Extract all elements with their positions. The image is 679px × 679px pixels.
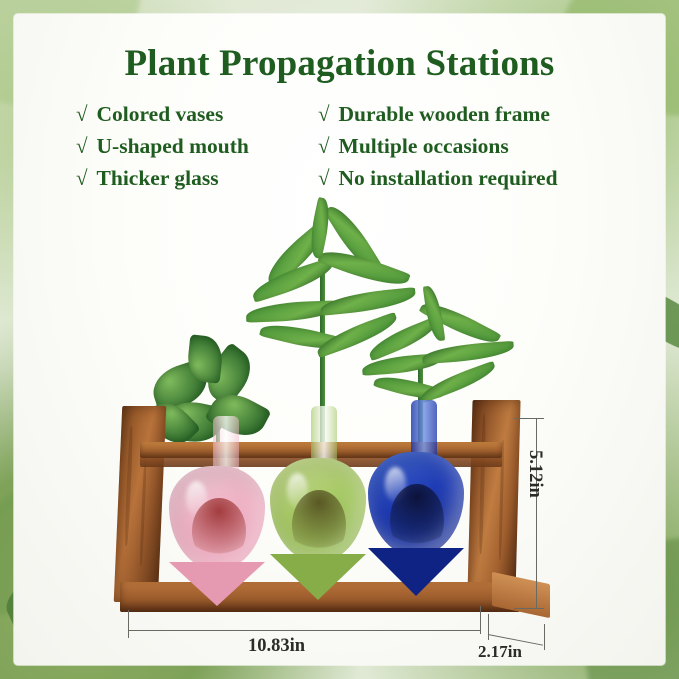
feature-label: Colored vases (97, 102, 224, 127)
pink-vase-tip (169, 562, 265, 606)
depth-tick-right (544, 624, 545, 650)
height-tick-bottom (514, 608, 544, 609)
page-title: Plant Propagation Stations (14, 42, 665, 85)
check-icon: √ (76, 136, 88, 157)
feature-item: √ Multiple occasions (318, 134, 636, 159)
feature-label: Durable wooden frame (339, 102, 550, 127)
feature-item: √ No installation required (318, 166, 636, 191)
green-vase-tip (270, 554, 366, 600)
check-icon: √ (318, 104, 330, 125)
feature-list: √ Colored vases √ Durable wooden frame √… (76, 102, 636, 191)
check-icon: √ (76, 168, 88, 189)
check-icon: √ (76, 104, 88, 125)
wooden-frame-right-post (467, 400, 520, 596)
green-vase-roots (292, 490, 346, 560)
feature-item: √ Colored vases (76, 102, 304, 127)
feature-item: √ Durable wooden frame (318, 102, 636, 127)
width-dimension-line (128, 630, 480, 631)
feature-item: √ Thicker glass (76, 166, 304, 191)
depth-dimension-label: 2.17in (478, 642, 522, 662)
wooden-frame-left-post (114, 406, 167, 602)
product-card: Plant Propagation Stations √ Colored vas… (14, 14, 665, 665)
palm-leaf (422, 341, 515, 364)
feature-label: Thicker glass (97, 166, 219, 191)
check-icon: √ (318, 136, 330, 157)
width-tick-left (128, 610, 129, 638)
palm-leaf (319, 287, 416, 316)
height-dimension-line (536, 418, 537, 608)
product-photo: 5.12in 10.83in 2.17in (14, 210, 665, 665)
feature-item: √ U-shaped mouth (76, 134, 304, 159)
height-tick-top (514, 418, 544, 419)
feature-label: No installation required (339, 166, 558, 191)
blue-vase-roots (390, 484, 444, 556)
height-dimension-label: 5.12in (524, 450, 545, 498)
width-tick-right (480, 606, 481, 634)
depth-tick-left (488, 614, 489, 640)
palm-leaf (418, 361, 499, 403)
width-dimension-label: 10.83in (248, 636, 305, 657)
pink-vase-roots (192, 498, 246, 564)
product-infographic: Plant Propagation Stations √ Colored vas… (0, 0, 679, 679)
feature-label: Multiple occasions (339, 134, 509, 159)
check-icon: √ (318, 168, 330, 189)
feature-label: U-shaped mouth (97, 134, 249, 159)
